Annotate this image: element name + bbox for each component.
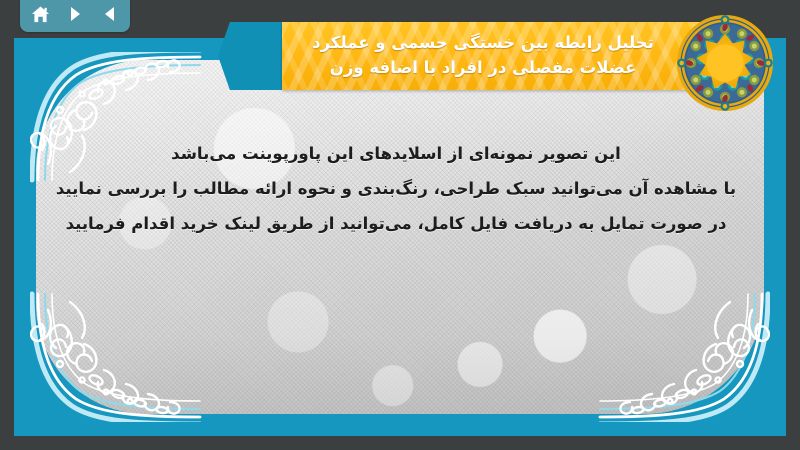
previous-slide-button[interactable] bbox=[99, 3, 121, 25]
body-line-3: در صورت تمایل به دریافت فایل کامل، می‌تو… bbox=[54, 212, 738, 236]
next-slide-button[interactable] bbox=[64, 3, 86, 25]
home-icon bbox=[31, 5, 50, 24]
home-button[interactable] bbox=[29, 3, 51, 25]
triangle-left-icon bbox=[101, 5, 119, 23]
medallion-ornament bbox=[676, 14, 774, 112]
slide-screenshot: این تصویر نمونه‌ای از اسلایدهای این پاور… bbox=[0, 0, 800, 450]
slide-title: تحلیل رابطه بین خستگی جسمی و عملکرد عضلا… bbox=[282, 22, 722, 90]
title-line-2: عضلات مفصلی در افراد با اضافه وزن bbox=[330, 57, 637, 80]
title-line-1: تحلیل رابطه بین خستگی جسمی و عملکرد bbox=[312, 32, 654, 55]
body-line-1: این تصویر نمونه‌ای از اسلایدهای این پاور… bbox=[54, 142, 738, 166]
triangle-right-icon bbox=[66, 5, 84, 23]
slide-body-text: این تصویر نمونه‌ای از اسلایدهای این پاور… bbox=[54, 142, 738, 247]
body-line-2: با مشاهده آن می‌توانید سبک طراحی، رنگ‌بن… bbox=[54, 177, 738, 201]
title-banner-tab bbox=[218, 22, 284, 90]
navigation-bar[interactable] bbox=[20, 0, 130, 32]
title-banner: تحلیل رابطه بین خستگی جسمی و عملکرد عضلا… bbox=[282, 22, 722, 90]
slide-inner: این تصویر نمونه‌ای از اسلایدهای این پاور… bbox=[14, 38, 786, 436]
